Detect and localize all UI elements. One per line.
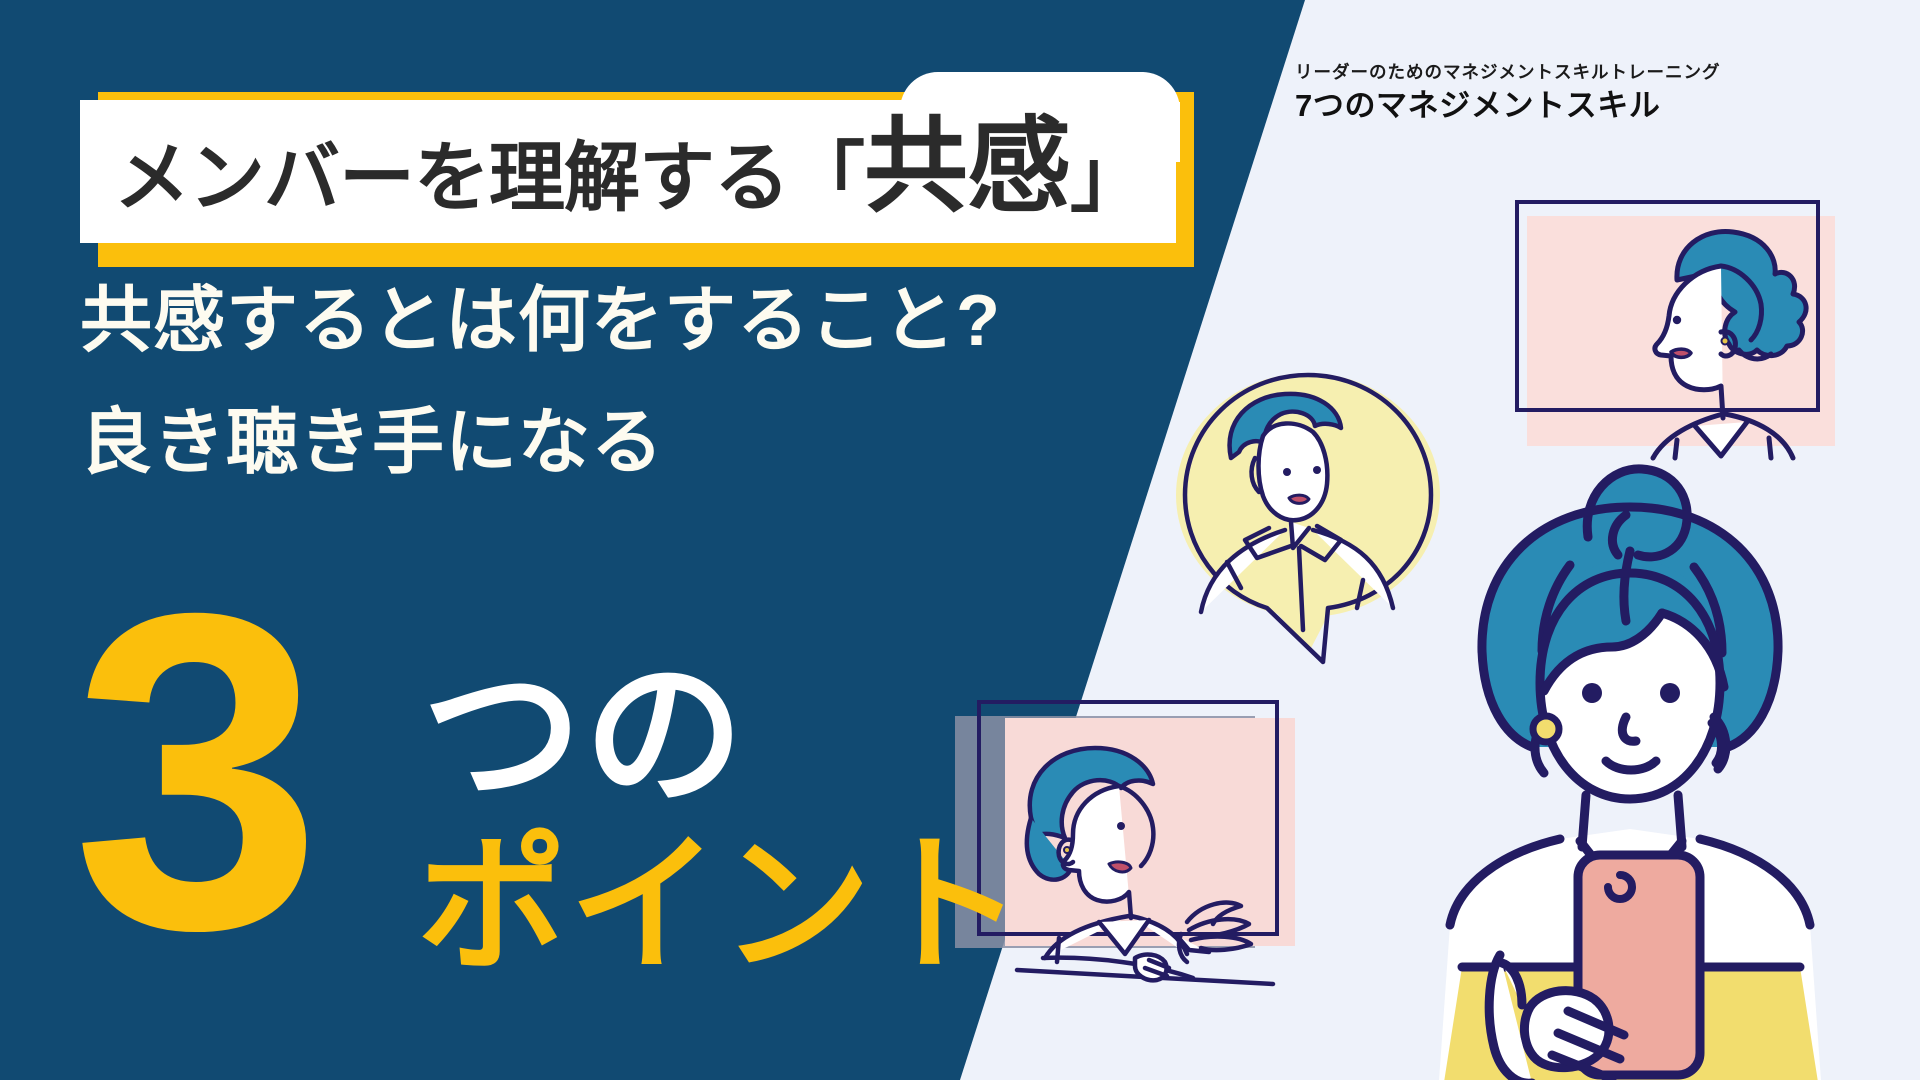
banner-title-text: メンバーを理解する「共感」 <box>114 106 1174 236</box>
header-brand-title: 7つのマネジメントスキル <box>1295 89 1895 124</box>
banner-title-emphasis: 共感 <box>864 118 1070 217</box>
illustration-woman-with-phone <box>1330 455 1920 1080</box>
highlight-three-points: 3 つの ポイント <box>72 575 1032 1005</box>
banner-title-tail: 」 <box>1070 116 1145 226</box>
highlight-number: 3 <box>72 547 312 997</box>
highlight-keyword: ポイント <box>417 830 1025 980</box>
banner-title-lead: メンバーを理解する「 <box>114 116 864 226</box>
poster-canvas: リーダーのためのマネジメントスキルトレーニング 7つのマネジメントスキル メンバ… <box>0 0 1920 1080</box>
headline-line-1: 共感するとは何をすること? <box>80 285 1140 357</box>
woman-profile-art <box>1525 208 1855 458</box>
headline-block: 共感するとは何をすること? 良き聴き手になる <box>80 285 1140 479</box>
illustration-woman-profile-framed <box>1515 200 1835 430</box>
title-banner: メンバーを理解する「共感」 <box>80 62 1190 237</box>
woman-phone-art <box>1330 455 1920 1080</box>
headline-line-2: 良き聴き手になる <box>80 407 1140 479</box>
header-branding: リーダーのためのマネジメントスキルトレーニング 7つのマネジメントスキル <box>1295 62 1895 124</box>
header-kicker: リーダーのためのマネジメントスキルトレーニング <box>1295 62 1895 83</box>
highlight-suffix: つの <box>422 655 746 815</box>
